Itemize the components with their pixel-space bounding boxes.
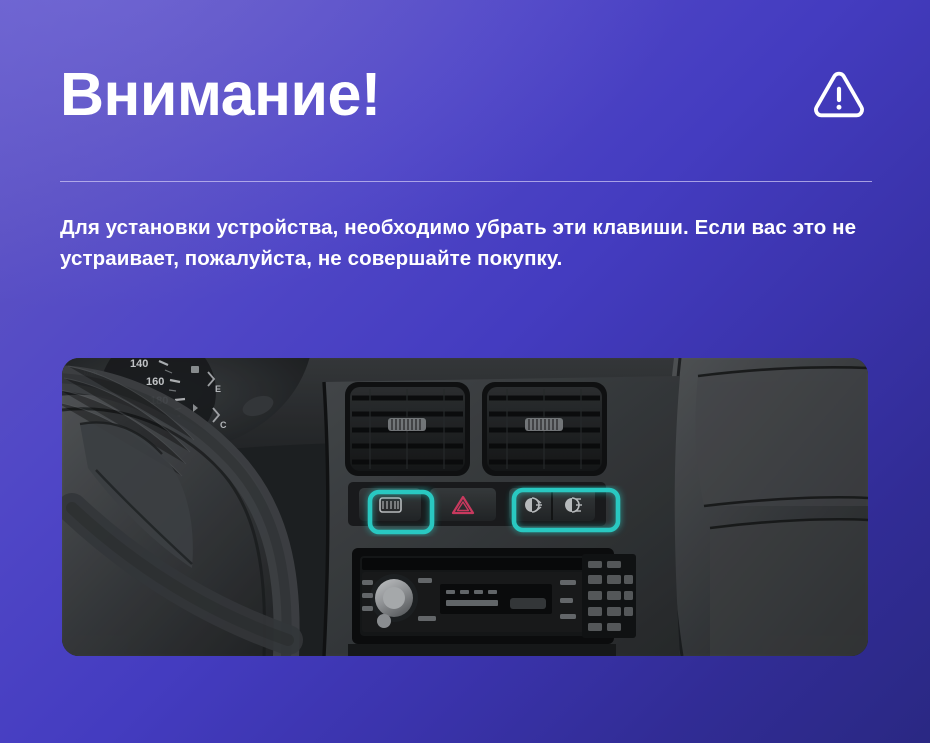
warning-triangle-icon [810,65,868,123]
header: Внимание! [60,46,872,142]
dashboard-photo: 140 160 180 200 km/h [62,358,868,656]
page-title: Внимание! [60,64,381,125]
warning-body-text: Для установки устройства, необходимо убр… [60,212,880,274]
header-divider [60,181,872,182]
warning-banner-page: Внимание! Для установки устройства, необ… [0,0,930,743]
